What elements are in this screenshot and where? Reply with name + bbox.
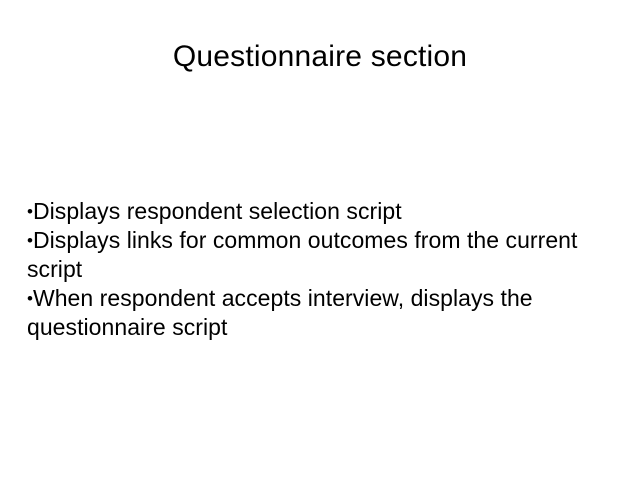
- list-item-label: Displays links for common outcomes from …: [27, 227, 577, 282]
- slide-canvas: Questionnaire section •Displays responde…: [0, 0, 640, 480]
- page-title: Questionnaire section: [0, 38, 640, 76]
- list-item: •Displays links for common outcomes from…: [27, 226, 619, 284]
- list-item-label: Displays respondent selection script: [33, 198, 402, 224]
- list-item: •When respondent accepts interview, disp…: [27, 284, 619, 342]
- list-item-label: When respondent accepts interview, displ…: [27, 285, 533, 340]
- list-item: •Displays respondent selection script: [27, 197, 619, 226]
- bullet-list: •Displays respondent selection script •D…: [27, 197, 619, 342]
